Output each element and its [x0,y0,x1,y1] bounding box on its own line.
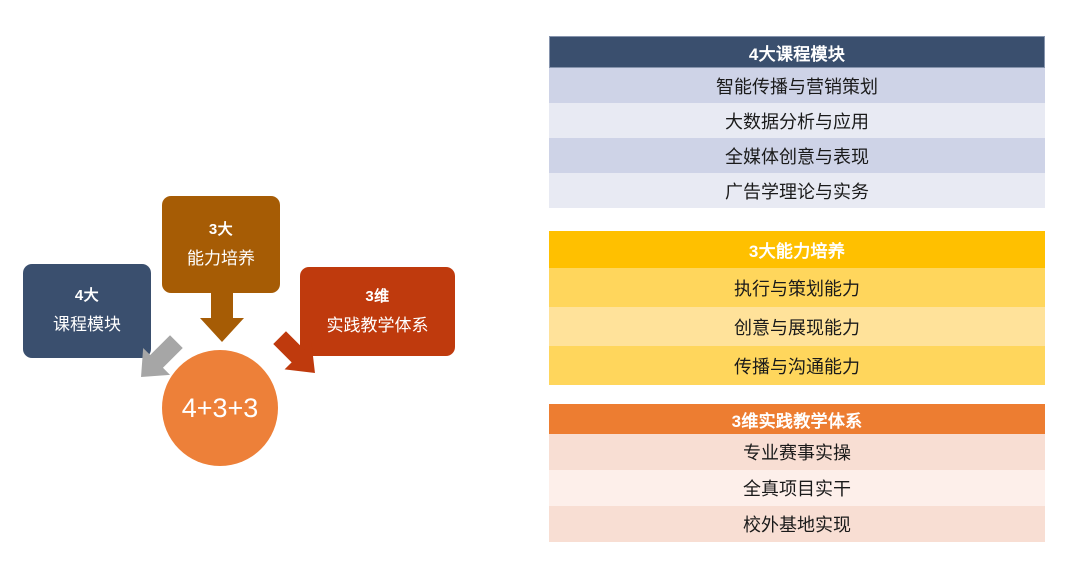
node-course-modules-label: 课程模块 [53,315,121,335]
node-ability-training-label: 能力培养 [187,249,255,269]
table-row[interactable]: 执行与策划能力 [549,268,1045,307]
table-course-modules-header: 4大课程模块 [549,36,1045,68]
arrow-down-icon [196,288,248,344]
core-circle-label: 4+3+3 [182,393,259,424]
table-course-modules: 4大课程模块 智能传播与营销策划 大数据分析与应用 全媒体创意与表现 广告学理论… [549,36,1045,208]
table-row[interactable]: 大数据分析与应用 [549,103,1045,138]
node-ability-training-caption: 3大 [209,221,233,238]
table-row[interactable]: 全媒体创意与表现 [549,138,1045,173]
table-row[interactable]: 创意与展现能力 [549,307,1045,346]
table-row[interactable]: 传播与沟通能力 [549,346,1045,385]
table-ability-training-header: 3大能力培养 [549,231,1045,268]
arrow-down-left-icon [268,328,328,384]
table-row[interactable]: 校外基地实现 [549,506,1045,542]
node-course-modules-caption: 4大 [75,287,99,304]
concept-diagram: 4大 课程模块 3大 能力培养 3维 实践教学体系 4+3+3 [0,0,520,572]
table-row[interactable]: 全真项目实干 [549,470,1045,506]
table-practice-system: 3维实践教学体系 专业赛事实操 全真项目实干 校外基地实现 [549,404,1045,542]
table-row[interactable]: 智能传播与营销策划 [549,68,1045,103]
table-ability-training: 3大能力培养 执行与策划能力 创意与展现能力 传播与沟通能力 [549,231,1045,385]
table-practice-system-header: 3维实践教学体系 [549,404,1045,434]
table-row[interactable]: 广告学理论与实务 [549,173,1045,208]
node-practice-system-caption: 3维 [365,288,389,305]
curriculum-tables: 4大课程模块 智能传播与营销策划 大数据分析与应用 全媒体创意与表现 广告学理论… [549,0,1045,572]
table-row[interactable]: 专业赛事实操 [549,434,1045,470]
arrow-down-right-icon [130,332,186,388]
diagram-node-ability-training[interactable]: 3大 能力培养 [162,196,280,293]
node-practice-system-label: 实践教学体系 [327,316,429,336]
